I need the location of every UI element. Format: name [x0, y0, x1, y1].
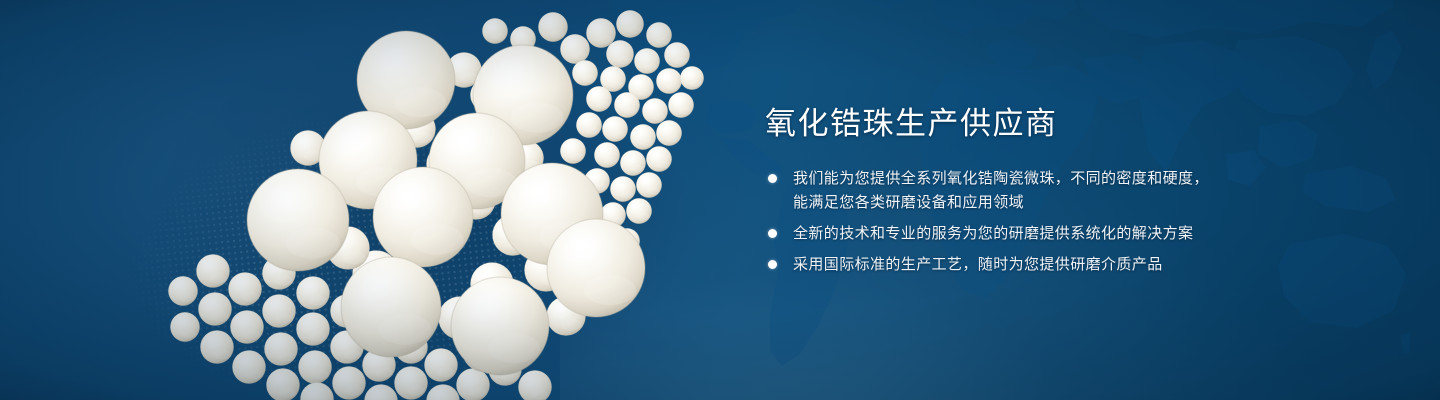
hero-banner: 氧化锆珠生产供应商 我们能为您提供全系列氧化锆陶瓷微珠，不同的密度和硬度， 能满… [0, 0, 1440, 400]
bullet-dot-icon [768, 229, 777, 238]
list-item-line: 我们能为您提供全系列氧化锆陶瓷微珠，不同的密度和硬度， [793, 166, 1385, 190]
list-item: 采用国际标准的生产工艺，随时为您提供研磨介质产品 [765, 252, 1385, 276]
list-item-line: 全新的技术和专业的服务为您的研磨提供系统化的解决方案 [793, 221, 1385, 245]
banner-copy: 氧化锆珠生产供应商 我们能为您提供全系列氧化锆陶瓷微珠，不同的密度和硬度， 能满… [765, 104, 1385, 276]
list-item-line: 能满足您各类研磨设备和应用领域 [793, 190, 1385, 214]
feature-list: 我们能为您提供全系列氧化锆陶瓷微珠，不同的密度和硬度， 能满足您各类研磨设备和应… [765, 166, 1385, 276]
bullet-dot-icon [768, 260, 777, 269]
bullet-dot-icon [768, 174, 777, 183]
list-item: 全新的技术和专业的服务为您的研磨提供系统化的解决方案 [765, 221, 1385, 245]
page-title: 氧化锆珠生产供应商 [765, 104, 1385, 144]
list-item: 我们能为您提供全系列氧化锆陶瓷微珠，不同的密度和硬度， 能满足您各类研磨设备和应… [765, 166, 1385, 214]
list-item-line: 采用国际标准的生产工艺，随时为您提供研磨介质产品 [793, 252, 1385, 276]
